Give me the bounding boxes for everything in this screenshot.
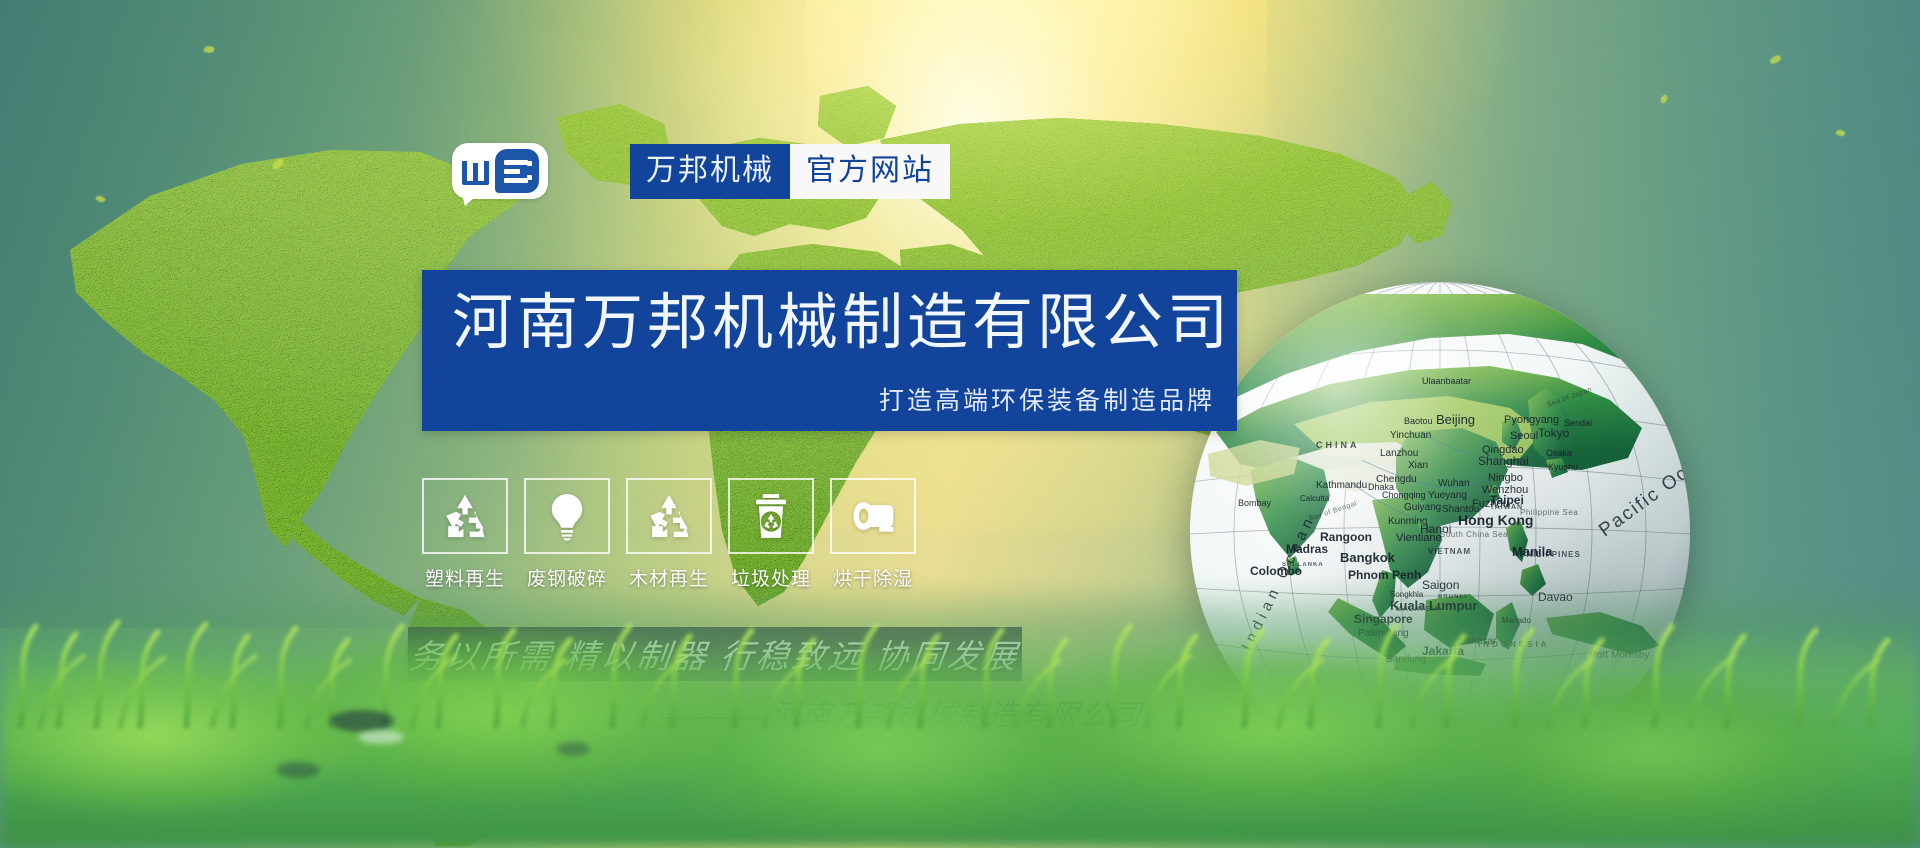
hero-banner: BeijingUlaanbaatarShanghaiHong KongTaipe… [0, 0, 1920, 848]
logo-letter-e-icon [495, 149, 539, 193]
official-site-tab[interactable]: 官方网站 [790, 144, 950, 199]
feature-item-4[interactable]: 垃圾处理 [728, 478, 814, 591]
lightbulb-icon [524, 478, 610, 554]
feature-icon-row: 塑料再生废钢破碎木材再生垃圾处理烘干除湿 [422, 478, 916, 591]
page-subtitle: 打造高端环保装备制造品牌 [879, 381, 1215, 417]
foreground-grass [0, 580, 1920, 848]
site-header: 万邦机械 官方网站 [452, 140, 950, 202]
recycle-icon [422, 478, 508, 554]
feature-item-5[interactable]: 烘干除湿 [830, 478, 916, 591]
recycle-icon [626, 478, 712, 554]
brand-name-tab[interactable]: 万邦机械 [630, 144, 790, 199]
feature-item-3[interactable]: 木材再生 [626, 478, 712, 591]
logo-letter-w-icon [461, 157, 491, 185]
company-title-banner: 河南万邦机械制造有限公司 打造高端环保装备制造品牌 [422, 270, 1237, 431]
wb-chat-bubble-logo[interactable] [452, 143, 548, 199]
dryer-drum-icon [830, 478, 916, 554]
feature-item-1[interactable]: 塑料再生 [422, 478, 508, 591]
feature-item-2[interactable]: 废钢破碎 [524, 478, 610, 591]
trash-bin-icon [728, 478, 814, 554]
page-title: 河南万邦机械制造有限公司 [452, 287, 1232, 357]
